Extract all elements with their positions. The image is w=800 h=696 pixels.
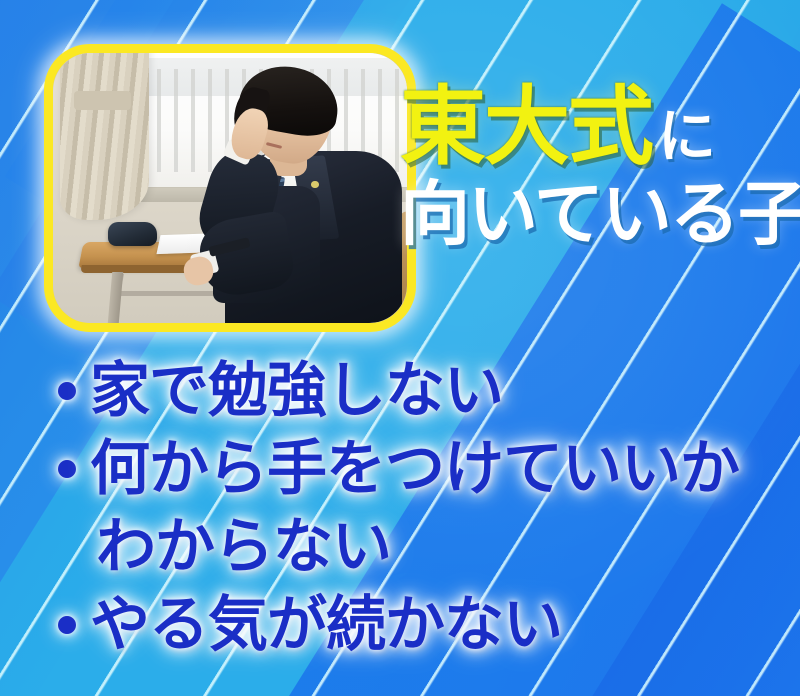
headline-line-1: 東大式 に xyxy=(400,84,800,170)
student-figure xyxy=(209,75,407,323)
list-item-continuation: わからない xyxy=(52,508,782,586)
bullet-dot-icon xyxy=(58,616,76,634)
bullet-dot-icon xyxy=(58,382,76,400)
promo-poster: 東大式 に 向いている子 家で勉強しない 何から手をつけていいか わからない や… xyxy=(0,0,800,696)
list-item: 何から手をつけていいか xyxy=(52,430,782,508)
curtain xyxy=(60,53,149,220)
headline-line-2: 向いている子 xyxy=(400,178,800,252)
student-photo-image xyxy=(53,53,407,323)
list-item-label: 家で勉強しない xyxy=(90,352,503,430)
headline: 東大式 に 向いている子 xyxy=(400,84,800,252)
student-school-badge xyxy=(311,181,318,188)
headline-particle: に xyxy=(658,107,716,165)
student-photo-card xyxy=(44,44,416,332)
bullet-list: 家で勉強しない 何から手をつけていいか わからない やる気が続かない xyxy=(52,352,782,664)
pencil-case xyxy=(108,222,158,246)
list-item: 家で勉強しない xyxy=(52,352,782,430)
list-item-label: やる気が続かない xyxy=(90,586,562,664)
list-item-label: 何から手をつけていいか xyxy=(90,430,739,508)
bullet-dot-icon xyxy=(58,460,76,478)
headline-emphasis: 東大式 xyxy=(400,84,652,170)
list-item-label: わからない xyxy=(96,508,391,586)
curtain-tie xyxy=(74,91,131,110)
list-item: やる気が続かない xyxy=(52,586,782,664)
